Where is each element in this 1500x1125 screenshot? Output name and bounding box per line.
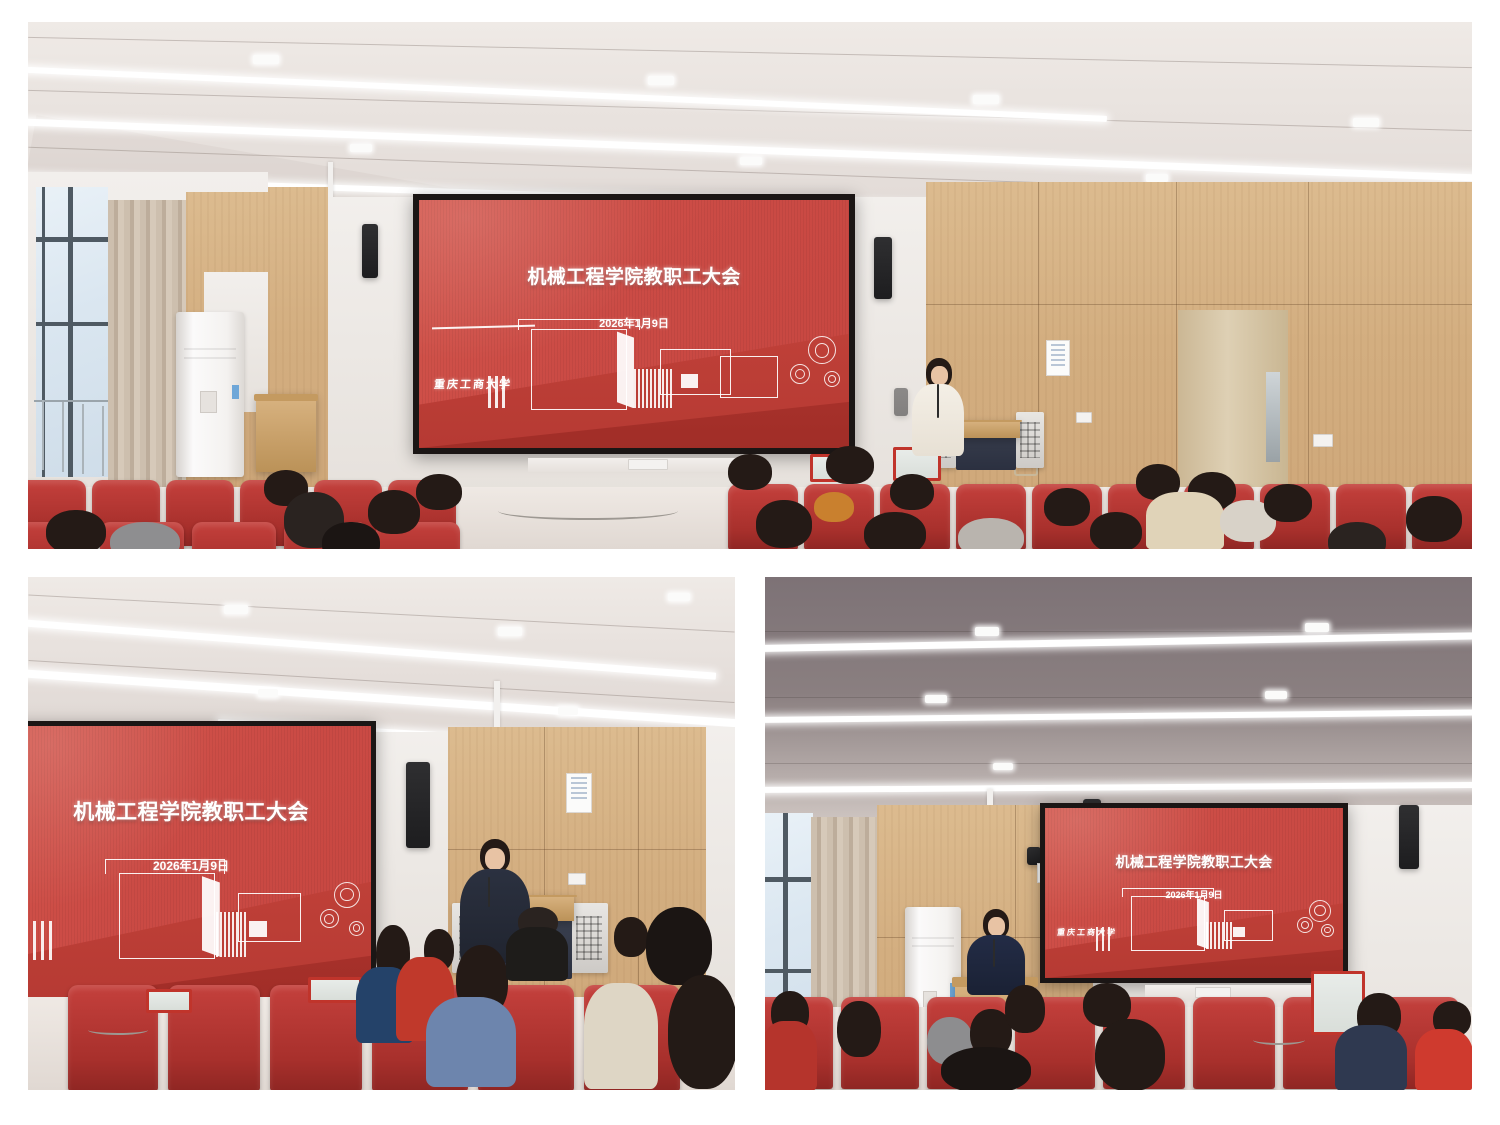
audience-head <box>46 510 106 549</box>
audience-body <box>506 927 568 981</box>
audience-head <box>614 917 648 957</box>
led-screen: 机械工程学院教职工大会 2026年1月9日 <box>28 721 376 1009</box>
slide-canvas: 机械工程学院教职工大会 2026年1月9日 重庆工商大学 <box>1045 808 1343 978</box>
speaker-person <box>965 909 1027 993</box>
audience-head <box>1264 484 1312 522</box>
downlight-icon <box>558 707 578 715</box>
logo-bars <box>33 921 52 960</box>
audience-head <box>1044 488 1090 526</box>
audience-head <box>814 492 854 522</box>
gear-icon <box>349 921 364 936</box>
downlight-icon <box>498 627 522 636</box>
downlight-icon <box>1146 174 1168 182</box>
wall-speaker <box>1399 805 1419 869</box>
slide-date: 2026年1月9日 <box>1045 888 1343 901</box>
air-conditioner <box>176 312 244 477</box>
downlight-icon <box>253 55 279 64</box>
photo-bottom-left: 机械工程学院教职工大会 2026年1月9日 <box>28 577 735 1090</box>
slide-title: 机械工程学院教职工大会 <box>28 796 371 826</box>
wall-speaker <box>406 762 430 848</box>
downlight-icon <box>740 157 762 165</box>
slide-canvas: 机械工程学院教职工大会 2026年1月9日 重庆工商大学 <box>419 200 849 448</box>
led-screen: 机械工程学院教职工大会 2026年1月9日 重庆工商大学 <box>413 194 855 454</box>
gear-icon <box>320 909 339 928</box>
audience-head <box>1095 1019 1165 1090</box>
audience-head <box>1406 496 1462 542</box>
podium <box>256 394 316 472</box>
downlight-icon <box>258 689 278 697</box>
wall-speaker <box>874 237 892 299</box>
audience-head <box>1090 512 1142 549</box>
wall-speaker <box>894 388 908 416</box>
notice-sheet <box>1046 340 1070 376</box>
downlight-icon <box>925 695 947 703</box>
slide-canvas: 机械工程学院教职工大会 2026年1月9日 <box>28 726 371 1004</box>
slide-date: 2026年1月9日 <box>419 315 849 331</box>
audience-head <box>728 454 772 490</box>
audience-body <box>765 1021 817 1090</box>
gear-icon <box>334 882 360 908</box>
audience-head <box>826 446 874 484</box>
red-case <box>308 977 362 1003</box>
downlight-icon <box>973 95 999 104</box>
audience-body <box>426 997 516 1087</box>
gear-icon <box>790 364 810 384</box>
notice-sheet <box>566 773 592 813</box>
equipment-rack <box>570 903 608 973</box>
gear-icon <box>1309 900 1331 922</box>
photo-bottom-right: 机械工程学院教职工大会 2026年1月9日 重庆工商大学 <box>765 577 1472 1090</box>
downlight-icon <box>1265 691 1287 699</box>
gear-icon <box>1297 917 1313 933</box>
slide-date: 2026年1月9日 <box>28 857 371 874</box>
audience-body <box>584 983 658 1089</box>
downlight-icon <box>993 763 1013 770</box>
wall-speaker <box>362 224 378 278</box>
audience-head <box>646 907 712 985</box>
downlight-icon <box>975 627 999 636</box>
audience-head <box>668 975 735 1089</box>
audience-head <box>958 518 1024 549</box>
audience-body <box>1415 1029 1472 1090</box>
photo-collage: 机械工程学院教职工大会 2026年1月9日 重庆工商大学 <box>0 0 1500 1125</box>
led-screen: 机械工程学院教职工大会 2026年1月9日 重庆工商大学 <box>1040 803 1348 983</box>
downlight-icon <box>668 593 690 601</box>
audience-head <box>890 474 934 510</box>
audience-head <box>416 474 462 510</box>
audience-head <box>837 1001 881 1057</box>
downlight-icon <box>1305 623 1329 632</box>
audience-head <box>368 490 420 534</box>
audience-head <box>756 500 812 548</box>
downlight-icon <box>350 144 372 152</box>
audience-head <box>941 1047 1031 1090</box>
audience-body <box>1335 1025 1407 1090</box>
audience-body <box>1146 492 1224 549</box>
red-case <box>146 989 192 1013</box>
slide-title: 机械工程学院教职工大会 <box>1045 852 1343 872</box>
slide-title: 机械工程学院教职工大会 <box>419 262 849 289</box>
downlight-icon <box>224 605 248 614</box>
audience-head <box>1005 985 1045 1033</box>
university-logo: 重庆工商大学 <box>1056 927 1117 938</box>
downlight-icon <box>1353 118 1379 127</box>
downlight-icon <box>648 76 674 85</box>
university-logo: 重庆工商大学 <box>433 376 513 392</box>
audience-head <box>864 512 926 549</box>
photo-top: 机械工程学院教职工大会 2026年1月9日 重庆工商大学 <box>28 22 1472 549</box>
gear-icon <box>1321 924 1334 937</box>
